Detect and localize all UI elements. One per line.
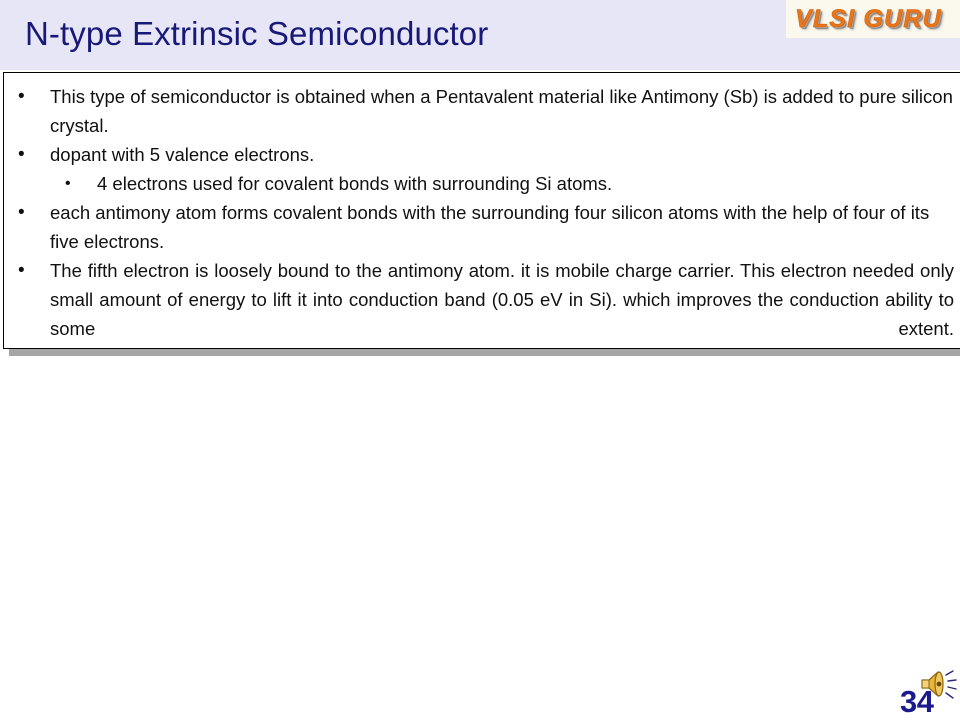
bullet-text: dopant with 5 valence electrons. bbox=[50, 140, 954, 169]
page-number: 34 bbox=[900, 684, 933, 720]
bullet-item: •4 electrons used for covalent bonds wit… bbox=[4, 169, 960, 198]
bullet-item: •The fifth electron is loosely bound to … bbox=[4, 256, 960, 349]
vlsi-guru-logo: VLSI GURU bbox=[786, 0, 960, 38]
bullet-text: 4 electrons used for covalent bonds with… bbox=[97, 169, 954, 198]
bullet-marker-icon: • bbox=[65, 169, 71, 198]
bullet-text: The fifth electron is loosely bound to t… bbox=[50, 256, 954, 349]
bullet-marker-icon: • bbox=[18, 198, 25, 227]
bullet-item: •each antimony atom forms covalent bonds… bbox=[4, 198, 960, 256]
bullet-marker-icon: • bbox=[18, 256, 25, 285]
bullet-item: •This type of semiconductor is obtained … bbox=[4, 82, 960, 140]
bullet-list: •This type of semiconductor is obtained … bbox=[4, 82, 960, 349]
bullet-item: •dopant with 5 valence electrons. bbox=[4, 140, 960, 169]
bullet-text: each antimony atom forms covalent bonds … bbox=[50, 198, 954, 256]
content-box: •This type of semiconductor is obtained … bbox=[3, 72, 960, 349]
bullet-marker-icon: • bbox=[18, 140, 25, 169]
bullet-marker-icon: • bbox=[18, 82, 25, 111]
bullet-text: This type of semiconductor is obtained w… bbox=[50, 82, 954, 140]
logo-text: VLSI GURU bbox=[795, 5, 942, 34]
page-marker: 34 bbox=[898, 668, 960, 720]
page-title: N-type Extrinsic Semiconductor bbox=[25, 12, 488, 56]
